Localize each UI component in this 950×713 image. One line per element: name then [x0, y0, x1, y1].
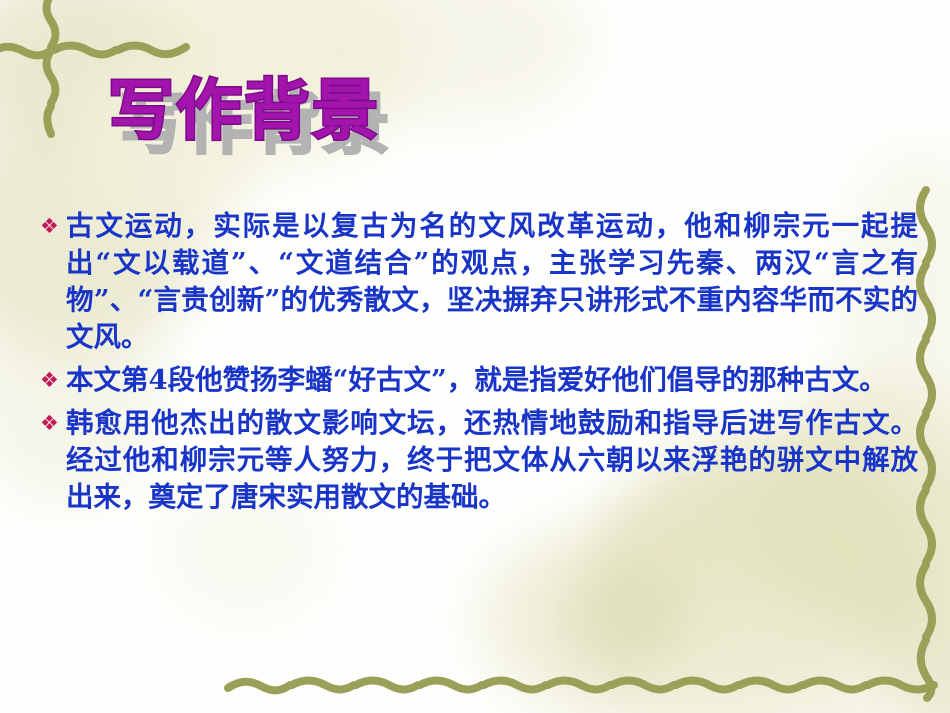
- diamond-bullet-icon: ❖: [34, 405, 66, 442]
- vine-top-vertical: [36, 0, 66, 139]
- slide-canvas: 写作背景 写作背景 ❖ 古文运动，实际是以复古为名的文风改革运动，他和柳宗元一起…: [0, 0, 950, 713]
- slide-body: ❖ 古文运动，实际是以复古为名的文风改革运动，他和柳宗元一起提出“文以载道”、“…: [34, 208, 918, 522]
- paragraph-text: 韩愈用他杰出的散文影响文坛，还热情地鼓励和指导后进写作古文。经过他和柳宗元等人努…: [66, 405, 918, 516]
- bullet-paragraph: ❖ 韩愈用他杰出的散文影响文坛，还热情地鼓励和指导后进写作古文。经过他和柳宗元等…: [34, 405, 918, 516]
- vine-top-horizontal: [0, 36, 205, 64]
- bullet-paragraph: ❖ 古文运动，实际是以复古为名的文风改革运动，他和柳宗元一起提出“文以载道”、“…: [34, 208, 918, 356]
- bullet-paragraph: ❖ 本文第4段他赞扬李蟠“好古文”，就是指爱好他们倡导的那种古文。: [34, 362, 918, 399]
- diamond-bullet-icon: ❖: [34, 362, 66, 399]
- slide-title-text: 写作背景: [108, 78, 380, 144]
- diamond-bullet-icon: ❖: [34, 208, 66, 245]
- vine-bottom-horizontal: [228, 672, 938, 700]
- paragraph-text: 本文第4段他赞扬李蟠“好古文”，就是指爱好他们倡导的那种古文。: [66, 362, 918, 399]
- slide-title: 写作背景 写作背景: [108, 78, 528, 168]
- paragraph-text: 古文运动，实际是以复古为名的文风改革运动，他和柳宗元一起提出“文以载道”、“文道…: [66, 208, 918, 356]
